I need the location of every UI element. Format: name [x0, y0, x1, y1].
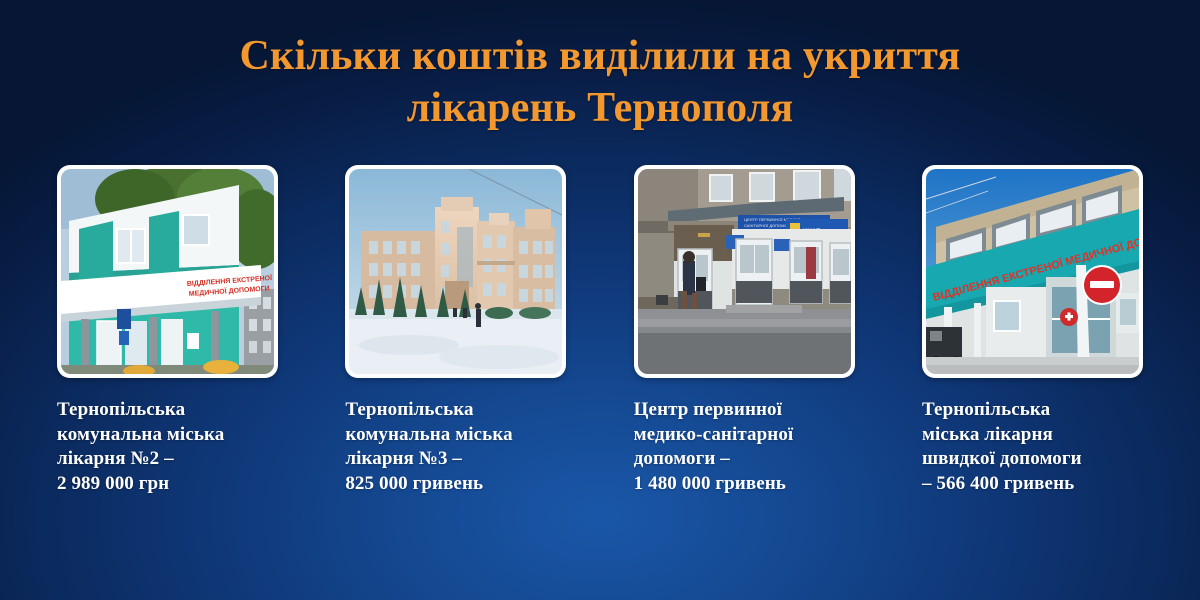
hospital-card: ЦЕНТР ПЕРВИННОЇ МЕДИКО- САНІТАРНОЇ ДОПОМ…	[634, 165, 855, 525]
emergency-hospital-illustration: ВІДДІЛЕННЯ ЕКСТРЕНОЇ МЕДИЧНОЇ ДОПОМОГИ	[926, 169, 1139, 374]
hospital-caption: Тернопільська міська лікарня швидкої доп…	[922, 398, 1143, 496]
hospital-photo-1: ВІДДІЛЕННЯ ЕКСТРЕНОЇ МЕДИЧНОЇ ДОПОМОГИ	[61, 169, 274, 374]
hospital-caption: Тернопільська комунальна міська лікарня …	[57, 398, 278, 496]
photo-frame: ЦЕНТР ПЕРВИННОЇ МЕДИКО- САНІТАРНОЇ ДОПОМ…	[634, 165, 855, 378]
photo-frame: ВІДДІЛЕННЯ ЕКСТРЕНОЇ МЕДИЧНОЇ ДОПОМОГИ	[57, 165, 278, 378]
hospital-photo-3: ЦЕНТР ПЕРВИННОЇ МЕДИКО- САНІТАРНОЇ ДОПОМ…	[638, 169, 851, 374]
hospital-card: ВІДДІЛЕННЯ ЕКСТРЕНОЇ МЕДИЧНОЇ ДОПОМОГИ	[57, 165, 278, 525]
hospital-card-list: ВІДДІЛЕННЯ ЕКСТРЕНОЇ МЕДИЧНОЇ ДОПОМОГИ	[57, 165, 1143, 525]
hospital-card: Тернопільська комунальна міська лікарня …	[345, 165, 566, 525]
page-title: Скільки коштів виділили на укриття лікар…	[0, 30, 1200, 134]
title-line-1: Скільки коштів виділили на укриття	[0, 30, 1200, 82]
hospital-caption: Центр первинної медико-санітарної допомо…	[634, 398, 855, 496]
title-line-2: лікарень Тернополя	[0, 82, 1200, 134]
hospital-card: ВІДДІЛЕННЯ ЕКСТРЕНОЇ МЕДИЧНОЇ ДОПОМОГИ	[922, 165, 1143, 525]
photo-frame	[345, 165, 566, 378]
hospital-3-illustration	[349, 169, 562, 374]
infographic-poster: Скільки коштів виділили на укриття лікар…	[0, 0, 1200, 600]
primary-care-centre-illustration: ЦЕНТР ПЕРВИННОЇ МЕДИКО- САНІТАРНОЇ ДОПОМ…	[638, 169, 851, 374]
photo-frame: ВІДДІЛЕННЯ ЕКСТРЕНОЇ МЕДИЧНОЇ ДОПОМОГИ	[922, 165, 1143, 378]
hospital-photo-4: ВІДДІЛЕННЯ ЕКСТРЕНОЇ МЕДИЧНОЇ ДОПОМОГИ	[926, 169, 1139, 374]
hospital-caption: Тернопільська комунальна міська лікарня …	[345, 398, 566, 496]
hospital-2-illustration: ВІДДІЛЕННЯ ЕКСТРЕНОЇ МЕДИЧНОЇ ДОПОМОГИ	[61, 169, 274, 374]
hospital-photo-2	[349, 169, 562, 374]
